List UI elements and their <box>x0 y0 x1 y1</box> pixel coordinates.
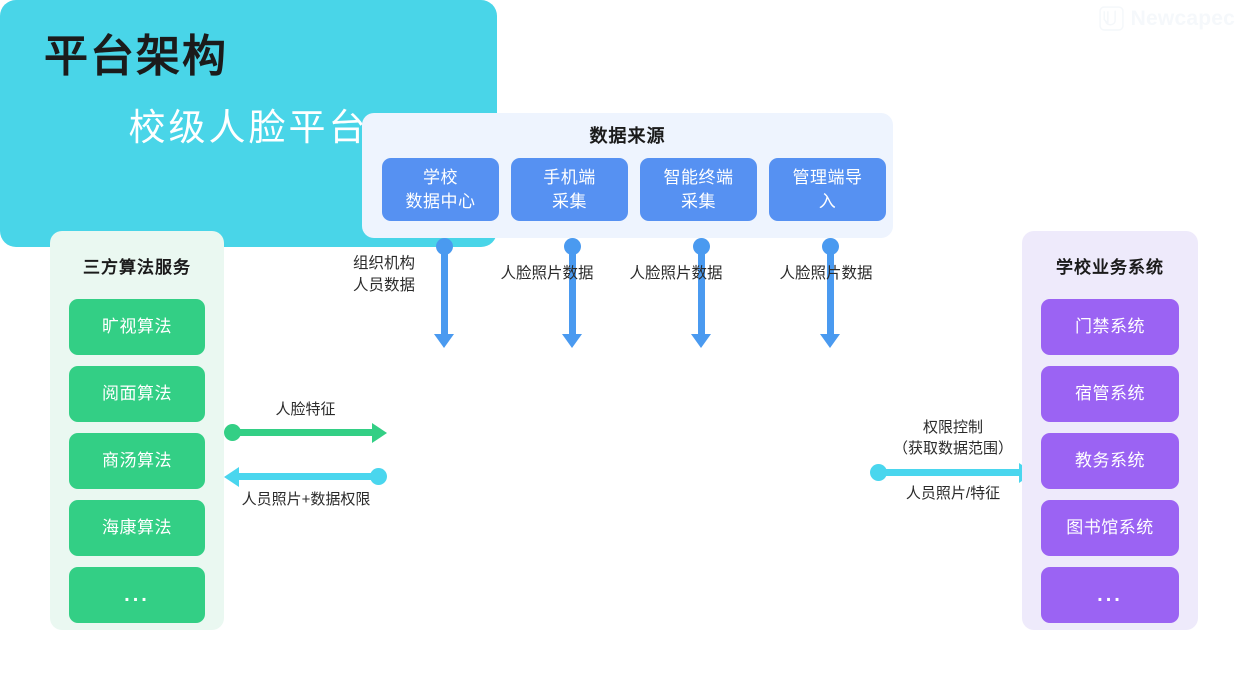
connector-stem <box>441 246 448 334</box>
connector-face-feature <box>224 424 387 442</box>
biz-chip-more[interactable]: ... <box>1041 567 1179 623</box>
data-source-list: 学校数据中心 手机端采集 智能终端采集 管理端导入 <box>382 158 886 221</box>
algo-chip-label: 商汤算法 <box>102 449 172 473</box>
flow-label-permission-control: 权限控制（获取数据范围） <box>878 417 1028 459</box>
flow-label-person-photo-permission: 人员照片+数据权限 <box>212 489 400 510</box>
algo-chip-sensetime[interactable]: 商汤算法 <box>69 433 205 489</box>
algo-chip-hikvision[interactable]: 海康算法 <box>69 500 205 556</box>
connector-stem <box>698 246 705 334</box>
connector-stem <box>878 469 1020 476</box>
algorithm-services-list: 旷视算法 阅面算法 商汤算法 海康算法 ... <box>69 299 205 623</box>
business-systems-title: 学校业务系统 <box>1022 253 1198 278</box>
algo-chip-more[interactable]: ... <box>69 567 205 623</box>
data-source-title: 数据来源 <box>362 122 893 148</box>
algorithm-services-panel: 三方算法服务 旷视算法 阅面算法 商汤算法 海康算法 ... <box>50 231 224 630</box>
algo-chip-megvii[interactable]: 旷视算法 <box>69 299 205 355</box>
data-source-panel: 数据来源 学校数据中心 手机端采集 智能终端采集 管理端导入 <box>362 113 893 238</box>
algo-chip-label: ... <box>124 583 150 607</box>
connector-stem <box>238 473 379 480</box>
connector-person-photo-feature <box>870 464 1034 482</box>
page-title: 平台架构 <box>44 28 228 86</box>
source-chip-label: 管理端导入 <box>793 166 863 214</box>
algo-chip-label: 海康算法 <box>102 516 172 540</box>
connector-stem <box>827 246 834 334</box>
algo-chip-readface[interactable]: 阅面算法 <box>69 366 205 422</box>
newcapec-logo-icon <box>1099 6 1124 31</box>
arrow-head-icon <box>820 334 840 348</box>
business-systems-panel: 学校业务系统 门禁系统 宿管系统 教务系统 图书馆系统 ... <box>1022 231 1198 630</box>
biz-chip-library[interactable]: 图书馆系统 <box>1041 500 1179 556</box>
biz-chip-dormitory[interactable]: 宿管系统 <box>1041 366 1179 422</box>
algorithm-services-title: 三方算法服务 <box>50 253 224 278</box>
face-platform-label: 校级人脸平台 <box>129 97 369 151</box>
flow-label-org-personnel-data: 组织机构人员数据 <box>332 253 436 297</box>
flow-label-face-photo-data-1: 人脸照片数据 <box>489 263 605 285</box>
arrow-head-icon <box>372 423 387 443</box>
source-chip-school-data-center[interactable]: 学校数据中心 <box>382 158 499 221</box>
biz-chip-access-control[interactable]: 门禁系统 <box>1041 299 1179 355</box>
biz-chip-label: ... <box>1097 583 1123 607</box>
connector-stem <box>232 429 373 436</box>
flow-label-face-photo-data-2: 人脸照片数据 <box>618 263 734 285</box>
biz-chip-label: 门禁系统 <box>1075 315 1145 339</box>
diagram-canvas: 平台架构 Newcapec 数据来源 学校数据中心 手机端采集 智能终端采集 管… <box>0 0 1248 677</box>
arrow-head-icon <box>434 334 454 348</box>
source-chip-label: 学校数据中心 <box>406 166 476 214</box>
brand-name: Newcapec <box>1131 6 1235 31</box>
source-chip-smart-terminal-capture[interactable]: 智能终端采集 <box>640 158 757 221</box>
biz-chip-label: 图书馆系统 <box>1066 516 1154 540</box>
source-chip-label: 智能终端采集 <box>664 166 734 214</box>
source-chip-label: 手机端采集 <box>543 166 596 214</box>
source-chip-admin-import[interactable]: 管理端导入 <box>769 158 886 221</box>
arrow-head-icon <box>691 334 711 348</box>
biz-chip-label: 教务系统 <box>1075 449 1145 473</box>
arrow-head-icon <box>224 467 239 487</box>
algo-chip-label: 旷视算法 <box>102 315 172 339</box>
connector-person-photo-permission <box>224 468 387 486</box>
source-chip-mobile-capture[interactable]: 手机端采集 <box>511 158 628 221</box>
flow-label-face-feature: 人脸特征 <box>224 399 387 420</box>
brand-logo: Newcapec <box>1099 6 1235 31</box>
flow-label-face-photo-data-3: 人脸照片数据 <box>768 263 884 285</box>
business-systems-list: 门禁系统 宿管系统 教务系统 图书馆系统 ... <box>1041 299 1179 623</box>
biz-chip-label: 宿管系统 <box>1075 382 1145 406</box>
flow-label-person-photo-feature: 人员照片/特征 <box>878 483 1028 504</box>
connector-stem <box>569 246 576 334</box>
biz-chip-academic-affairs[interactable]: 教务系统 <box>1041 433 1179 489</box>
arrow-head-icon <box>562 334 582 348</box>
algo-chip-label: 阅面算法 <box>102 382 172 406</box>
